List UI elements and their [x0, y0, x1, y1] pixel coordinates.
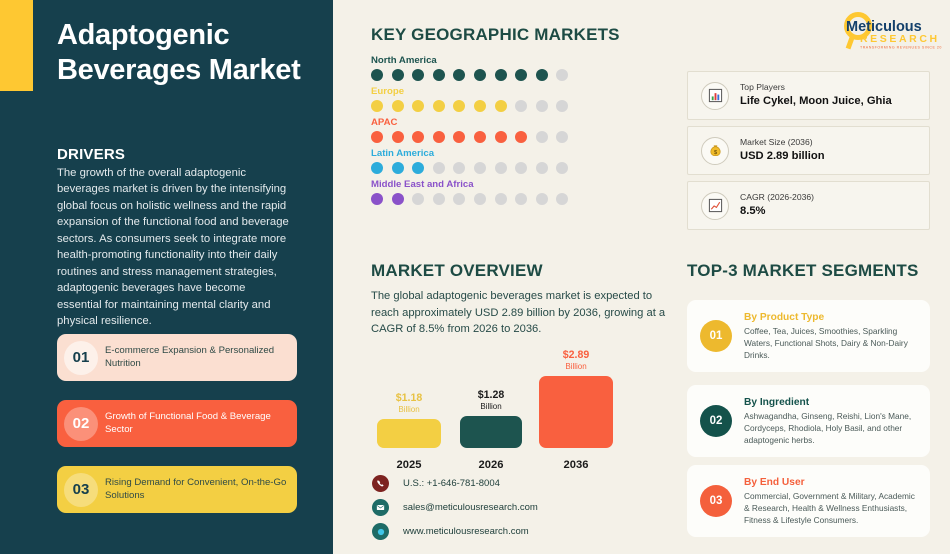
geo-dot-empty — [515, 100, 527, 112]
geographic-markets-list: North AmericaEuropeAPACLatin AmericaMidd… — [371, 55, 568, 210]
bar-rect — [460, 416, 522, 448]
drivers-heading: DRIVERS — [57, 146, 125, 163]
geo-dot-filled — [433, 69, 445, 81]
geo-region-label: Middle East and Africa — [371, 179, 568, 190]
bar-unit-label: Billion — [539, 362, 613, 372]
geo-region-row: Latin America — [371, 148, 568, 174]
market-overview-bar-chart: $1.18Billion2025$1.28Billion2026$2.89Bil… — [371, 355, 651, 475]
driver-label: Rising Demand for Convenient, On-the-Go … — [105, 477, 297, 502]
geo-region-label: North America — [371, 55, 568, 66]
money-bag-icon: $ — [701, 137, 729, 165]
geo-dot-scale — [371, 131, 568, 143]
geographic-section-title: KEY GEOGRAPHIC MARKETS — [371, 25, 620, 45]
geo-dot-filled — [392, 131, 404, 143]
contact-row[interactable]: U.S.: +1-646-781-8004 — [372, 475, 538, 492]
geo-dot-empty — [556, 131, 568, 143]
geo-dot-empty — [495, 162, 507, 174]
segment-number-badge: 03 — [700, 485, 732, 517]
driver-card-1[interactable]: 01 E-commerce Expansion & Personalized N… — [57, 334, 297, 381]
bar-group: $1.18Billion — [377, 393, 441, 448]
geo-dot-filled — [392, 69, 404, 81]
driver-label: Growth of Functional Food & Beverage Sec… — [105, 411, 297, 436]
yellow-accent-block — [0, 0, 33, 91]
bar-category-label: 2026 — [460, 459, 522, 471]
segment-heading: By End User — [744, 476, 920, 490]
geo-region-label: Latin America — [371, 148, 568, 159]
geo-dot-filled — [392, 162, 404, 174]
segment-text-group: By End UserCommercial, Government & Mili… — [744, 476, 930, 527]
bar-value-label: $2.89 — [539, 350, 613, 362]
stat-label: Top Players — [740, 82, 892, 94]
bar-group: $2.89Billion — [539, 350, 613, 448]
stat-label: CAGR (2026-2036) — [740, 192, 814, 204]
geo-region-label: APAC — [371, 117, 568, 128]
stat-value: USD 2.89 billion — [740, 149, 825, 164]
stat-value: 8.5% — [740, 204, 814, 219]
driver-card-3[interactable]: 03 Rising Demand for Convenient, On-the-… — [57, 466, 297, 513]
bar-category-label: 2036 — [539, 459, 613, 471]
drivers-body-text: The growth of the overall adaptogenic be… — [57, 165, 291, 330]
segment-card-03[interactable]: 03By End UserCommercial, Government & Mi… — [687, 465, 930, 537]
contact-text: www.meticulousresearch.com — [403, 526, 529, 537]
geo-dot-empty — [474, 162, 486, 174]
geo-dot-filled — [495, 131, 507, 143]
driver-number-text: 02 — [73, 415, 90, 432]
line-chart-icon — [701, 192, 729, 220]
phone-icon — [372, 475, 389, 492]
geo-dot-filled — [474, 131, 486, 143]
svg-text:RESEARCH: RESEARCH — [860, 33, 940, 45]
driver-number-text: 01 — [73, 349, 90, 366]
meticulous-research-logo: Meticulous RESEARCH TRANSFORMING REVENUE… — [838, 11, 942, 51]
segment-heading: By Product Type — [744, 311, 920, 325]
geo-dot-empty — [453, 193, 465, 205]
contact-row[interactable]: www.meticulousresearch.com — [372, 523, 538, 540]
segment-description: Ashwagandha, Ginseng, Reishi, Lion's Man… — [744, 411, 920, 446]
svg-text:TRANSFORMING REVENUES SINCE 20: TRANSFORMING REVENUES SINCE 2010 — [860, 46, 942, 50]
geo-dot-empty — [515, 162, 527, 174]
geo-dot-empty — [495, 193, 507, 205]
geo-dot-empty — [556, 162, 568, 174]
geo-dot-filled — [371, 100, 383, 112]
market-overview-title: MARKET OVERVIEW — [371, 261, 543, 281]
geo-dot-empty — [556, 193, 568, 205]
page-title: Adaptogenic Beverages Market — [57, 18, 319, 88]
segment-card-01[interactable]: 01By Product TypeCoffee, Tea, Juices, Sm… — [687, 300, 930, 372]
geo-dot-empty — [433, 162, 445, 174]
geo-dot-empty — [412, 193, 424, 205]
geo-dot-scale — [371, 193, 568, 205]
geo-region-row: Europe — [371, 86, 568, 112]
segment-number-badge: 02 — [700, 405, 732, 437]
geo-dot-filled — [392, 193, 404, 205]
geo-dot-filled — [433, 131, 445, 143]
geo-dot-filled — [474, 100, 486, 112]
globe-icon — [372, 523, 389, 540]
geo-dot-filled — [433, 100, 445, 112]
segment-heading: By Ingredient — [744, 396, 920, 410]
geo-dot-empty — [536, 100, 548, 112]
bar-unit-label: Billion — [377, 405, 441, 415]
segment-description: Coffee, Tea, Juices, Smoothies, Sparklin… — [744, 326, 920, 361]
segments-section-title: TOP-3 MARKET SEGMENTS — [687, 261, 919, 281]
geo-dot-empty — [536, 162, 548, 174]
segment-text-group: By Product TypeCoffee, Tea, Juices, Smoo… — [744, 311, 930, 362]
infographic-page: Adaptogenic Beverages Market DRIVERS The… — [0, 0, 950, 554]
geo-dot-empty — [515, 193, 527, 205]
segment-description: Commercial, Government & Military, Acade… — [744, 491, 920, 526]
left-panel: Adaptogenic Beverages Market DRIVERS The… — [0, 0, 333, 554]
bar-rect — [377, 419, 441, 448]
segment-number-badge: 01 — [700, 320, 732, 352]
contact-text: U.S.: +1-646-781-8004 — [403, 478, 500, 489]
stat-card-top-players[interactable]: Top Players Life Cykel, Moon Juice, Ghia — [687, 71, 930, 120]
geo-dot-filled — [412, 100, 424, 112]
geo-dot-filled — [371, 69, 383, 81]
bar-rect — [539, 376, 613, 448]
geo-dot-filled — [495, 100, 507, 112]
geo-dot-filled — [474, 69, 486, 81]
geo-dot-empty — [433, 193, 445, 205]
bar-category-label: 2025 — [377, 459, 441, 471]
geo-region-row: North America — [371, 55, 568, 81]
market-overview-body: The global adaptogenic beverages market … — [371, 288, 667, 338]
bar-value-label: $1.18 — [377, 393, 441, 405]
geo-dot-empty — [536, 193, 548, 205]
contact-row[interactable]: sales@meticulousresearch.com — [372, 499, 538, 516]
contact-text: sales@meticulousresearch.com — [403, 502, 538, 513]
geo-dot-filled — [392, 100, 404, 112]
geo-dot-scale — [371, 100, 568, 112]
geo-dot-empty — [556, 69, 568, 81]
geo-dot-filled — [453, 100, 465, 112]
stat-card-market-size[interactable]: $ Market Size (2036) USD 2.89 billion — [687, 126, 930, 175]
driver-number: 02 — [57, 415, 105, 432]
contact-list: U.S.: +1-646-781-8004sales@meticulousres… — [372, 475, 538, 547]
stat-text-group: Market Size (2036) USD 2.89 billion — [740, 137, 825, 164]
segment-text-group: By IngredientAshwagandha, Ginseng, Reish… — [744, 396, 930, 447]
segment-card-02[interactable]: 02By IngredientAshwagandha, Ginseng, Rei… — [687, 385, 930, 457]
geo-dot-filled — [412, 131, 424, 143]
geo-dot-filled — [371, 162, 383, 174]
stat-text-group: Top Players Life Cykel, Moon Juice, Ghia — [740, 82, 892, 109]
geo-dot-filled — [371, 131, 383, 143]
geo-dot-filled — [412, 162, 424, 174]
geo-dot-empty — [474, 193, 486, 205]
driver-number: 03 — [57, 481, 105, 498]
geo-region-row: Middle East and Africa — [371, 179, 568, 205]
driver-card-2[interactable]: 02 Growth of Functional Food & Beverage … — [57, 400, 297, 447]
geo-dot-filled — [495, 69, 507, 81]
geo-dot-scale — [371, 69, 568, 81]
driver-number-text: 03 — [73, 481, 90, 498]
driver-label: E-commerce Expansion & Personalized Nutr… — [105, 345, 297, 370]
stat-card-cagr[interactable]: CAGR (2026-2036) 8.5% — [687, 181, 930, 230]
geo-dot-filled — [515, 131, 527, 143]
geo-dot-filled — [453, 131, 465, 143]
geo-dot-empty — [536, 131, 548, 143]
geo-dot-filled — [536, 69, 548, 81]
geo-region-label: Europe — [371, 86, 568, 97]
geo-dot-scale — [371, 162, 568, 174]
geo-dot-empty — [453, 162, 465, 174]
stat-text-group: CAGR (2026-2036) 8.5% — [740, 192, 814, 219]
bar-chart-icon — [701, 82, 729, 110]
bar-group: $1.28Billion — [460, 390, 522, 448]
stat-label: Market Size (2036) — [740, 137, 825, 149]
geo-region-row: APAC — [371, 117, 568, 143]
geo-dot-filled — [371, 193, 383, 205]
stat-value: Life Cykel, Moon Juice, Ghia — [740, 94, 892, 109]
geo-dot-filled — [515, 69, 527, 81]
geo-dot-empty — [556, 100, 568, 112]
envelope-icon — [372, 499, 389, 516]
driver-number: 01 — [57, 349, 105, 366]
geo-dot-filled — [412, 69, 424, 81]
bar-value-label: $1.28 — [460, 390, 522, 402]
bar-unit-label: Billion — [460, 402, 522, 412]
geo-dot-filled — [453, 69, 465, 81]
